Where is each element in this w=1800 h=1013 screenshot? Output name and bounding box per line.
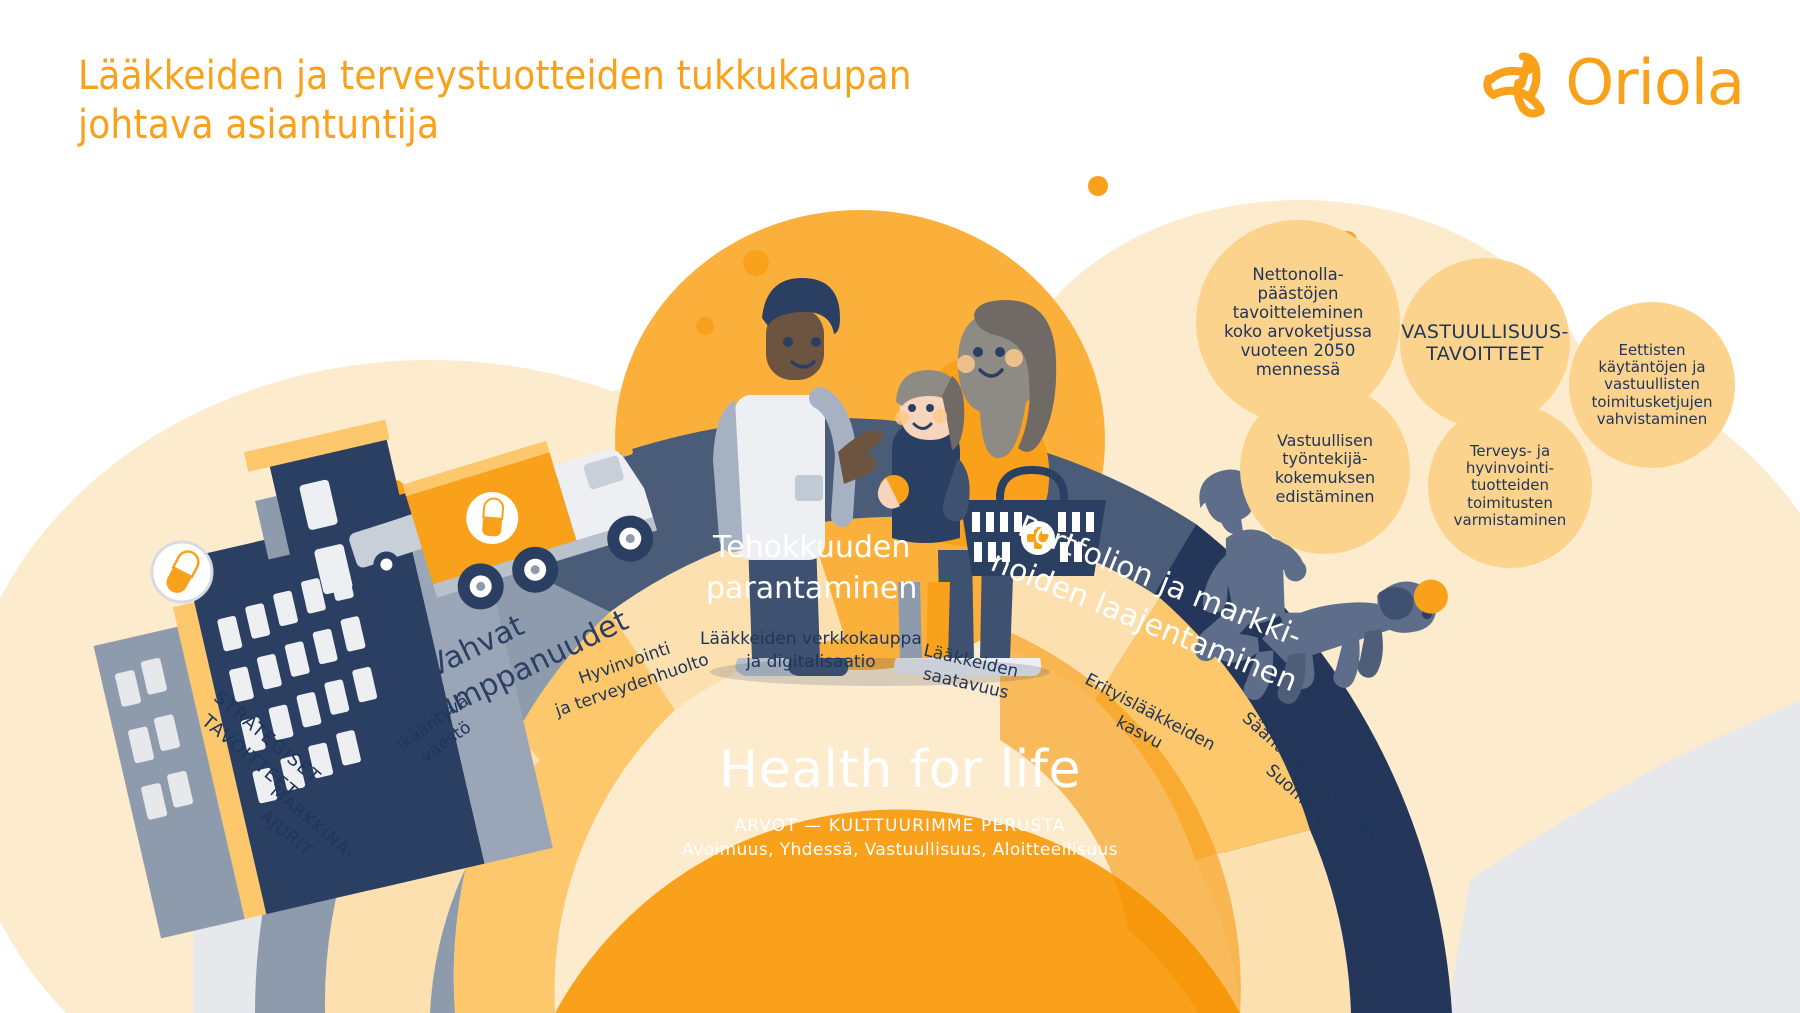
bubble-health-l3: tuotteiden xyxy=(1471,476,1549,494)
bubble-health-l5: varmistaminen xyxy=(1454,511,1567,529)
page-title-line1: Lääkkeiden ja terveystuotteiden tukkukau… xyxy=(78,52,1128,101)
infographic-canvas: Lääkkeiden ja terveystuotteiden tukkukau… xyxy=(0,0,1800,1013)
bubble-employee-experience[interactable]: Vastuullisen työntekijä- kokemuksen edis… xyxy=(1240,384,1410,554)
label-strategic-efficiency[interactable]: Tehokkuuden parantaminen xyxy=(706,528,917,609)
bubble-ethical-l3: vastuullisten xyxy=(1604,375,1700,393)
bubble-net-zero-l6: mennessä xyxy=(1256,360,1341,379)
bubble-health-l4: toimitusten xyxy=(1467,494,1553,512)
label-efficiency-l2: parantaminen xyxy=(706,569,917,610)
pill-sign-icon xyxy=(152,542,212,602)
bubble-sustainability-targets[interactable]: VASTUULLISUUS- TAVOITTEET xyxy=(1400,258,1570,428)
page-title: Lääkkeiden ja terveystuotteiden tukkukau… xyxy=(78,52,1128,150)
bubble-health-products-supply[interactable]: Terveys- ja hyvinvointi- tuotteiden toim… xyxy=(1428,404,1592,568)
brand-logo[interactable]: Oriola xyxy=(1477,46,1744,120)
bubble-employee-l2: työntekijä- xyxy=(1282,449,1368,468)
label-efficiency-l1: Tehokkuuden xyxy=(706,528,917,569)
bubble-ethical-practices[interactable]: Eettisten käytäntöjen ja vastuullisten t… xyxy=(1569,302,1735,468)
bubble-net-zero-l3: tavoitteleminen xyxy=(1233,303,1364,322)
bubble-net-zero-l1: Nettonolla- xyxy=(1252,265,1343,284)
bubble-net-zero-l2: päästöjen xyxy=(1257,284,1338,303)
bubble-employee-l4: edistäminen xyxy=(1275,487,1374,506)
oriola-mark-icon xyxy=(1477,46,1551,120)
delivery-truck-icon xyxy=(403,418,665,622)
bubble-employee-l1: Vastuullisen xyxy=(1277,431,1373,450)
bubble-ethical-l1: Eettisten xyxy=(1618,341,1685,359)
bubble-health-l1: Terveys- ja xyxy=(1470,442,1550,460)
bubble-ethical-l5: vahvistaminen xyxy=(1597,410,1708,428)
brand-name: Oriola xyxy=(1565,52,1744,114)
label-driver-ecommerce[interactable]: Lääkkeiden verkkokauppa ja digitalisaati… xyxy=(700,628,922,674)
sustainability-targets-l2: TAVOITTEET xyxy=(1426,343,1544,365)
family-shopping-illustration xyxy=(710,278,1106,686)
figure-man xyxy=(713,278,884,676)
bubble-health-l2: hyvinvointi- xyxy=(1466,459,1554,477)
bubble-net-zero-l5: vuoteen 2050 xyxy=(1241,341,1356,360)
bubble-employee-l3: kokemuksen xyxy=(1275,468,1375,487)
sustainability-targets-l1: VASTUULLISUUS- xyxy=(1401,321,1568,343)
bubble-net-zero-l4: koko arvoketjussa xyxy=(1224,322,1372,341)
bubble-ethical-l2: käytäntöjen ja xyxy=(1598,358,1705,376)
page-title-line2: johtava asiantuntija xyxy=(78,101,1128,150)
label-ecommerce-l1: Lääkkeiden verkkokauppa xyxy=(700,628,922,651)
bubble-ethical-l4: toimitusketjujen xyxy=(1591,393,1712,411)
label-ecommerce-l2: ja digitalisaatio xyxy=(700,651,922,674)
